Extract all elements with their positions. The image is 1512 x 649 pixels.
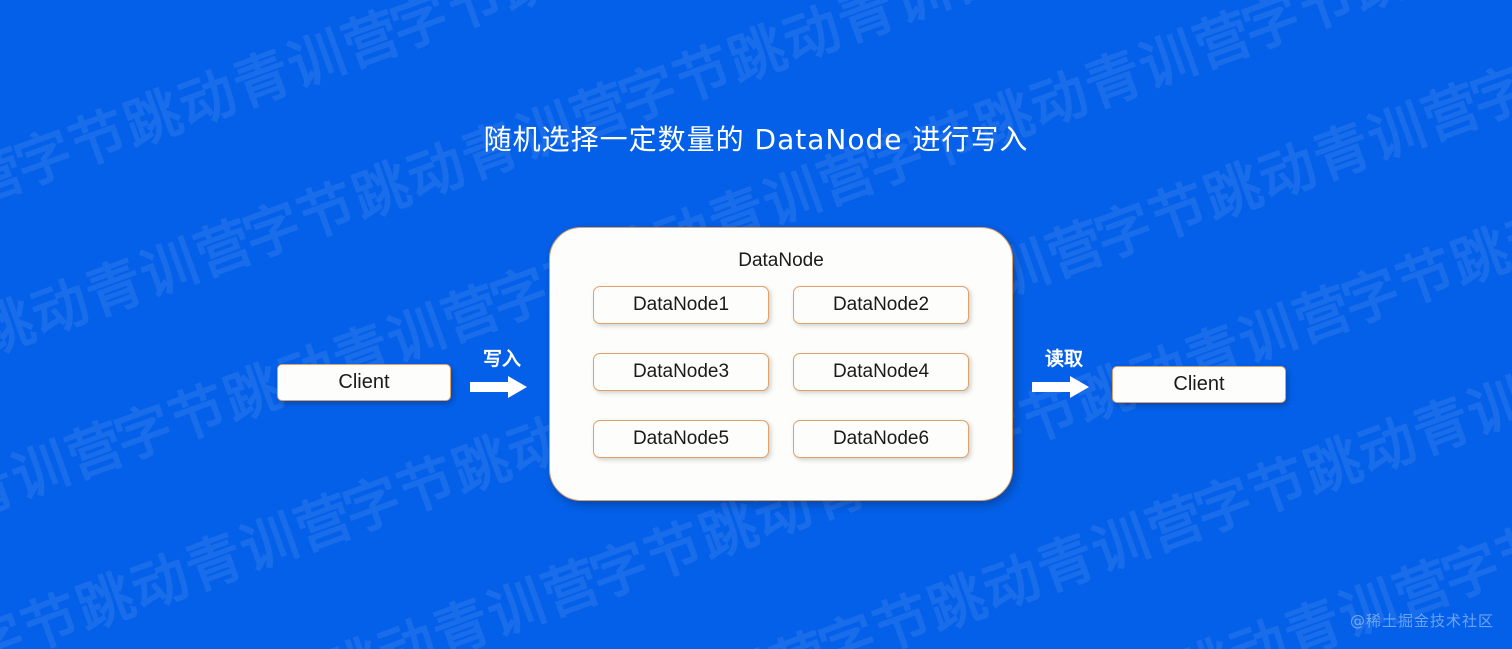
watermark-text: 字节跳动青训营 [854, 0, 1258, 203]
watermark-text: 字节跳动青训营 [430, 610, 834, 649]
page-title: 随机选择一定数量的 DataNode 进行写入 [0, 118, 1512, 158]
client-left-box[interactable]: Client [277, 364, 451, 401]
arrow-right-icon [1032, 376, 1090, 398]
watermark-text: 字节跳动青训营 [202, 538, 606, 649]
datanode-box-label: DataNode3 [633, 361, 729, 383]
datanode-box-label: DataNode2 [833, 294, 929, 316]
watermark-text: 字节跳动青训营 [378, 0, 782, 65]
write-arrow-label: 写入 [470, 348, 534, 370]
watermark-text: 字节跳动青训营 [982, 0, 1386, 1]
watermark-text: 字节跳动青训营 [1082, 62, 1486, 275]
slide-canvas: 字节跳动青训营 字节跳动青训营 字节跳动青训营 字节跳动青训营 字节跳动青训营 … [0, 0, 1512, 649]
datanode-box-label: DataNode4 [833, 361, 929, 383]
client-left-label: Client [338, 371, 389, 394]
watermark-text: 字节跳动青训营 [1330, 128, 1512, 341]
watermark-text: 字节跳动青训营 [1429, 402, 1512, 615]
datanode-box-6[interactable]: DataNode6 [793, 420, 969, 458]
watermark-text: 字节跳动青训营 [1230, 0, 1512, 66]
watermark-text: 字节跳动青训营 [0, 473, 358, 649]
watermark-text: 字节跳动青训营 [0, 400, 130, 613]
watermark-text: 字节跳动青训营 [1054, 539, 1458, 649]
datanode-box-2[interactable]: DataNode2 [793, 286, 969, 324]
attribution-text: @稀土掘金技术社区 [1350, 610, 1494, 631]
datanode-container-title: DataNode [550, 250, 1012, 272]
datanode-box-5[interactable]: DataNode5 [593, 420, 769, 458]
datanode-container: DataNode DataNode1 DataNode2 DataNode3 D… [549, 227, 1013, 501]
client-right-label: Client [1173, 373, 1224, 396]
datanode-box-label: DataNode1 [633, 294, 729, 316]
datanode-grid: DataNode1 DataNode2 DataNode3 DataNode4 … [593, 286, 969, 458]
datanode-box-4[interactable]: DataNode4 [793, 353, 969, 391]
watermark-text: 字节跳动青训营 [2, 0, 406, 202]
watermark-text: 字节跳动青训营 [607, 0, 1011, 138]
datanode-box-3[interactable]: DataNode3 [593, 353, 769, 391]
client-right-box[interactable]: Client [1112, 366, 1286, 403]
arrow-right-icon [470, 376, 528, 398]
datanode-box-1[interactable]: DataNode1 [593, 286, 769, 324]
datanode-box-label: DataNode5 [633, 428, 729, 450]
write-arrow-group: 写入 [470, 348, 534, 398]
datanode-box-label: DataNode6 [833, 428, 929, 450]
read-arrow-label: 读取 [1032, 348, 1096, 370]
watermark-text: 字节跳动青训营 [0, 198, 258, 411]
read-arrow-group: 读取 [1032, 348, 1096, 398]
